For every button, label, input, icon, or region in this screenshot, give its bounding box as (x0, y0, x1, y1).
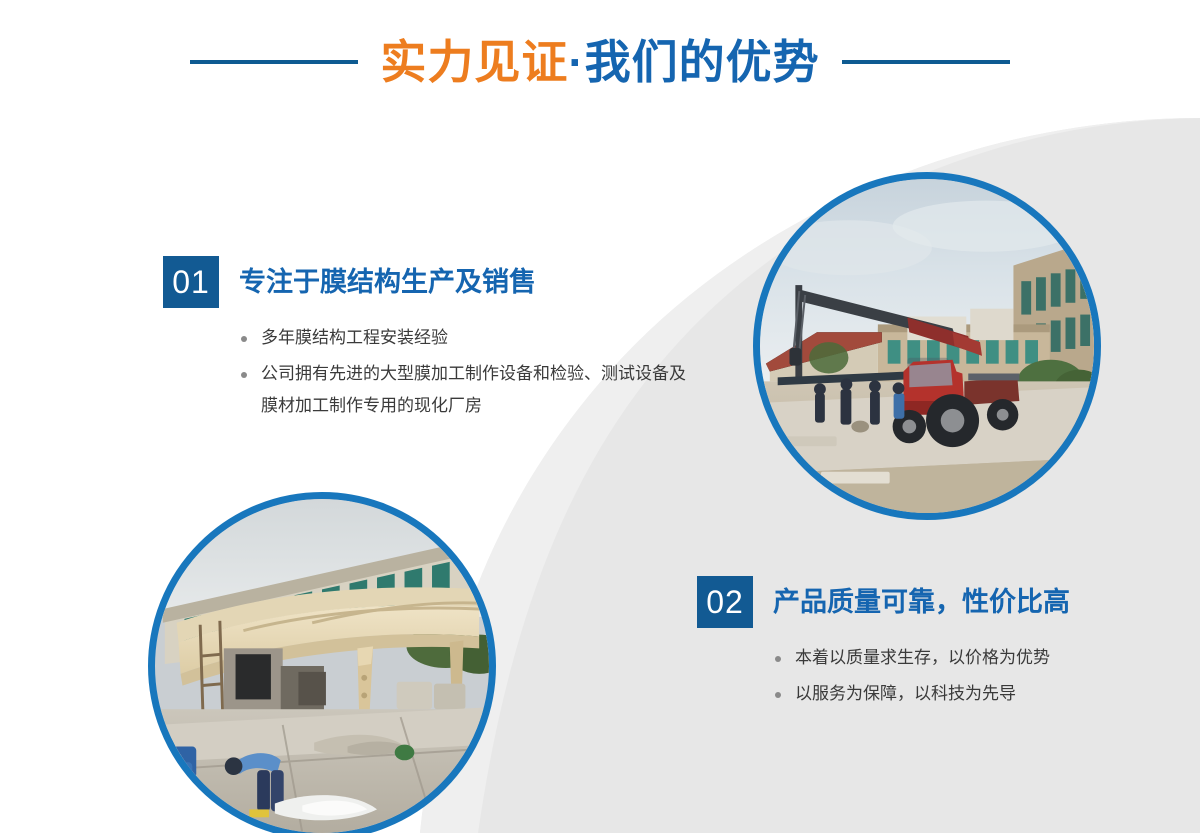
header: 实力见证·我们的优势 (0, 26, 1200, 98)
photo-membrane-canopy-image (155, 499, 489, 833)
advantages-banner: 实力见证·我们的优势 (0, 0, 1200, 833)
page-title-highlight: 实力见证 (380, 36, 568, 88)
page-title-rest: ·我们的优势 (568, 36, 819, 88)
photo-tractor-crane-site (753, 172, 1101, 520)
advantage-01-title: 专注于膜结构生产及销售 (239, 256, 536, 308)
advantage-01-number-badge: 01 (163, 256, 219, 308)
title-rule-right (842, 60, 1010, 64)
advantage-01-header: 01 专注于膜结构生产及销售 (163, 256, 693, 308)
advantage-02-title: 产品质量可靠，性价比高 (773, 576, 1070, 628)
photo-membrane-canopy-site (148, 492, 496, 833)
advantage-01-bullet-list: 多年膜结构工程安装经验 公司拥有先进的大型膜加工制作设备和检验、测试设备及膜材加… (239, 322, 693, 422)
advantage-02-header: 02 产品质量可靠，性价比高 (697, 576, 1127, 628)
advantage-02-bullet-list: 本着以质量求生存，以价格为优势 以服务为保障，以科技为先导 (773, 642, 1127, 710)
photo-tractor-crane-image (760, 179, 1094, 513)
advantage-section-02: 02 产品质量可靠，性价比高 本着以质量求生存，以价格为优势 以服务为保障，以科… (697, 576, 1127, 714)
list-item: 公司拥有先进的大型膜加工制作设备和检验、测试设备及膜材加工制作专用的现化厂房 (239, 358, 693, 422)
advantage-02-number-badge: 02 (697, 576, 753, 628)
page-title: 实力见证·我们的优势 (380, 39, 819, 85)
list-item: 本着以质量求生存，以价格为优势 (773, 642, 1127, 674)
title-rule-left (190, 60, 358, 64)
list-item: 以服务为保障，以科技为先导 (773, 678, 1127, 710)
advantage-section-01: 01 专注于膜结构生产及销售 多年膜结构工程安装经验 公司拥有先进的大型膜加工制… (163, 256, 693, 426)
list-item: 多年膜结构工程安装经验 (239, 322, 693, 354)
